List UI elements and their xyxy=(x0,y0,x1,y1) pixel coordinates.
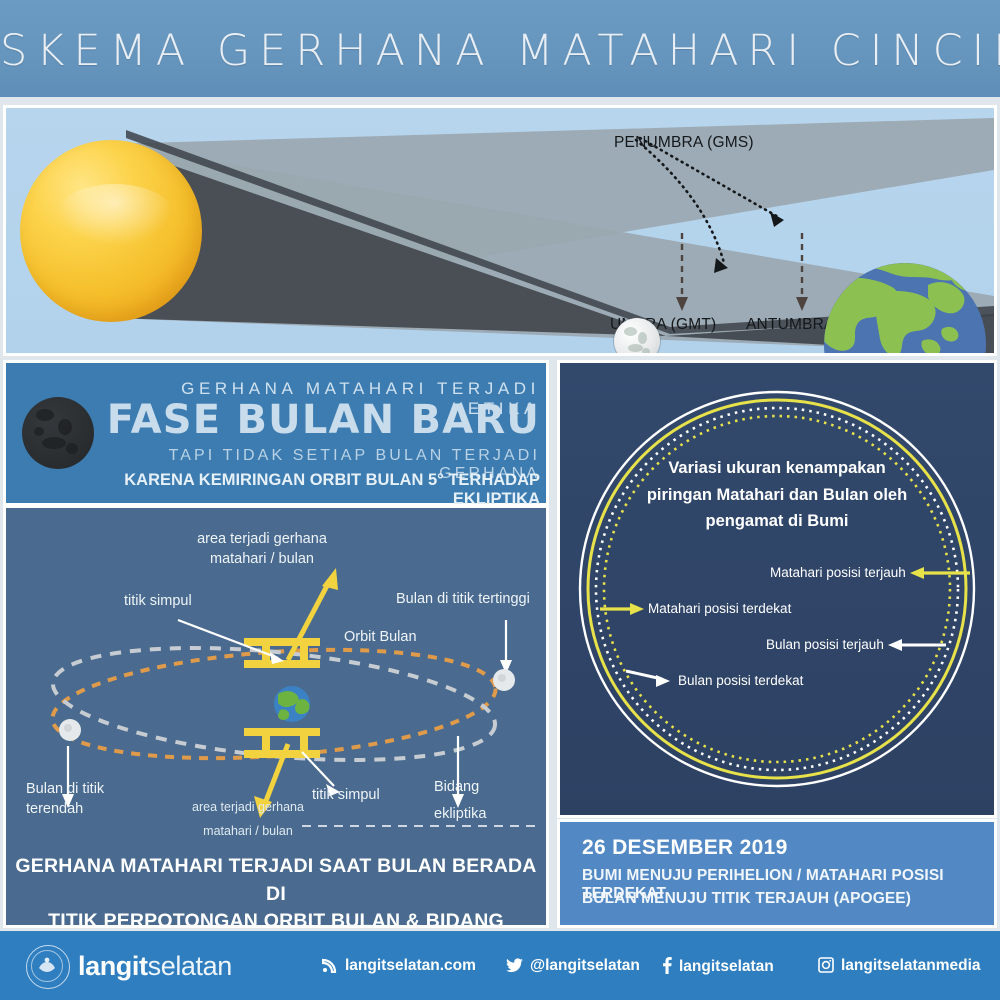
label-eclipse-area-top-l1: area terjadi gerhana xyxy=(182,530,342,550)
new-moon-line4: KARENA KEMIRINGAN ORBIT BULAN 5° TERHADA… xyxy=(102,471,540,509)
facebook-icon xyxy=(662,957,672,979)
footer-link-facebook[interactable]: langitselatan xyxy=(662,957,774,979)
rss-icon xyxy=(322,957,338,978)
langitselatan-seal-logo[interactable] xyxy=(26,945,70,989)
eclipse-date-panel: 26 DESEMBER 2019 BUMI MENUJU PERIHELION … xyxy=(560,822,994,925)
label-sun-nearest: Matahari posisi terdekat xyxy=(648,601,791,616)
label-eclipse-area-top-l2: matahari / bulan xyxy=(182,550,342,570)
label-eclipse-area-bottom-l1: area terjadi gerhana xyxy=(184,796,312,820)
apparent-size-variation-panel: Variasi ukuran kenampakan piringan Matah… xyxy=(560,363,994,815)
footer-link-instagram-label: langitselatanmedia xyxy=(841,957,981,974)
label-moon-lowest-l1: Bulan di titik xyxy=(26,780,136,800)
label-sun-farthest: Matahari posisi terjauh xyxy=(770,565,906,580)
label-node-top: titik simpul xyxy=(124,592,192,612)
label-ecliptic-plane: Bidang ekliptika xyxy=(434,774,524,828)
label-moon-lowest-l2: terendah xyxy=(26,800,136,820)
label-eclipse-area-top: area terjadi gerhana matahari / bulan xyxy=(182,530,342,569)
header-bar: SKEMA GERHANA MATAHARI CINCIN xyxy=(0,0,1000,97)
new-moon-headline: FASE BULAN BARU xyxy=(102,397,540,443)
variation-title-l2: piringan Matahari dan Bulan oleh xyxy=(615,482,939,509)
orbit-caption-l2: TITIK PERPOTONGAN ORBIT BULAN & BIDANG E… xyxy=(6,908,546,925)
twitter-icon xyxy=(506,958,523,978)
eclipse-shadow-diagram: PENUMBRA (GMS) UMBRA (GMT) ANTUMBRA (GMC… xyxy=(6,108,994,353)
langitselatan-wordmark[interactable]: langitselatan xyxy=(78,951,232,982)
label-moon-nearest: Bulan posisi terdekat xyxy=(678,673,803,688)
label-moon-highest: Bulan di titik tertinggi xyxy=(396,590,530,610)
label-ecliptic-l1: Bidang xyxy=(434,774,524,801)
footer-link-website-label: langitselatan.com xyxy=(345,957,476,974)
footer-bar: langitselatan langitselatan.com @langits… xyxy=(0,931,1000,1000)
page-title: SKEMA GERHANA MATAHARI CINCIN xyxy=(0,26,1000,76)
label-node-bottom: titik simpul xyxy=(312,786,380,806)
footer-link-instagram[interactable]: langitselatanmedia xyxy=(818,957,981,978)
footer-link-twitter[interactable]: @langitselatan xyxy=(506,957,640,978)
new-moon-phase-panel: GERHANA MATAHARI TERJADI KETIKA FASE BUL… xyxy=(6,363,546,503)
moon-orbit-panel: area terjadi gerhana matahari / bulan ti… xyxy=(6,508,546,925)
eclipse-date-note2: BULAN MENUJU TITIK TERJAUH (APOGEE) xyxy=(582,890,911,908)
concentric-rings-svg xyxy=(560,363,994,815)
label-moon-orbit: Orbit Bulan xyxy=(344,628,417,648)
label-moon-farthest: Bulan posisi terjauh xyxy=(766,637,884,652)
label-eclipse-area-bottom-l2: matahari / bulan xyxy=(184,820,312,844)
orbit-caption-l1: GERHANA MATAHARI TERJADI SAAT BULAN BERA… xyxy=(6,853,546,908)
variation-title-l1: Variasi ukuran kenampakan xyxy=(615,455,939,482)
brand-light: selatan xyxy=(148,951,232,981)
label-moon-lowest: Bulan di titik terendah xyxy=(26,780,136,819)
annotation-arrows-svg xyxy=(6,108,994,353)
orbit-panel-caption: GERHANA MATAHARI TERJADI SAAT BULAN BERA… xyxy=(6,853,546,925)
footer-link-twitter-label: @langitselatan xyxy=(530,957,640,974)
label-ecliptic-l2: ekliptika xyxy=(434,801,524,828)
new-moon-icon xyxy=(22,397,94,469)
eclipse-date: 26 DESEMBER 2019 xyxy=(582,836,788,860)
infographic-root: SKEMA GERHANA MATAHARI CINCIN xyxy=(0,0,1000,1000)
instagram-icon xyxy=(818,957,834,978)
label-eclipse-area-bottom: area terjadi gerhana matahari / bulan xyxy=(184,796,312,844)
brand-bold: langit xyxy=(78,951,148,981)
footer-link-website[interactable]: langitselatan.com xyxy=(322,957,476,978)
variation-title: Variasi ukuran kenampakan piringan Matah… xyxy=(615,455,939,535)
variation-title-l3: pengamat di Bumi xyxy=(615,508,939,535)
footer-link-facebook-label: langitselatan xyxy=(679,958,774,975)
